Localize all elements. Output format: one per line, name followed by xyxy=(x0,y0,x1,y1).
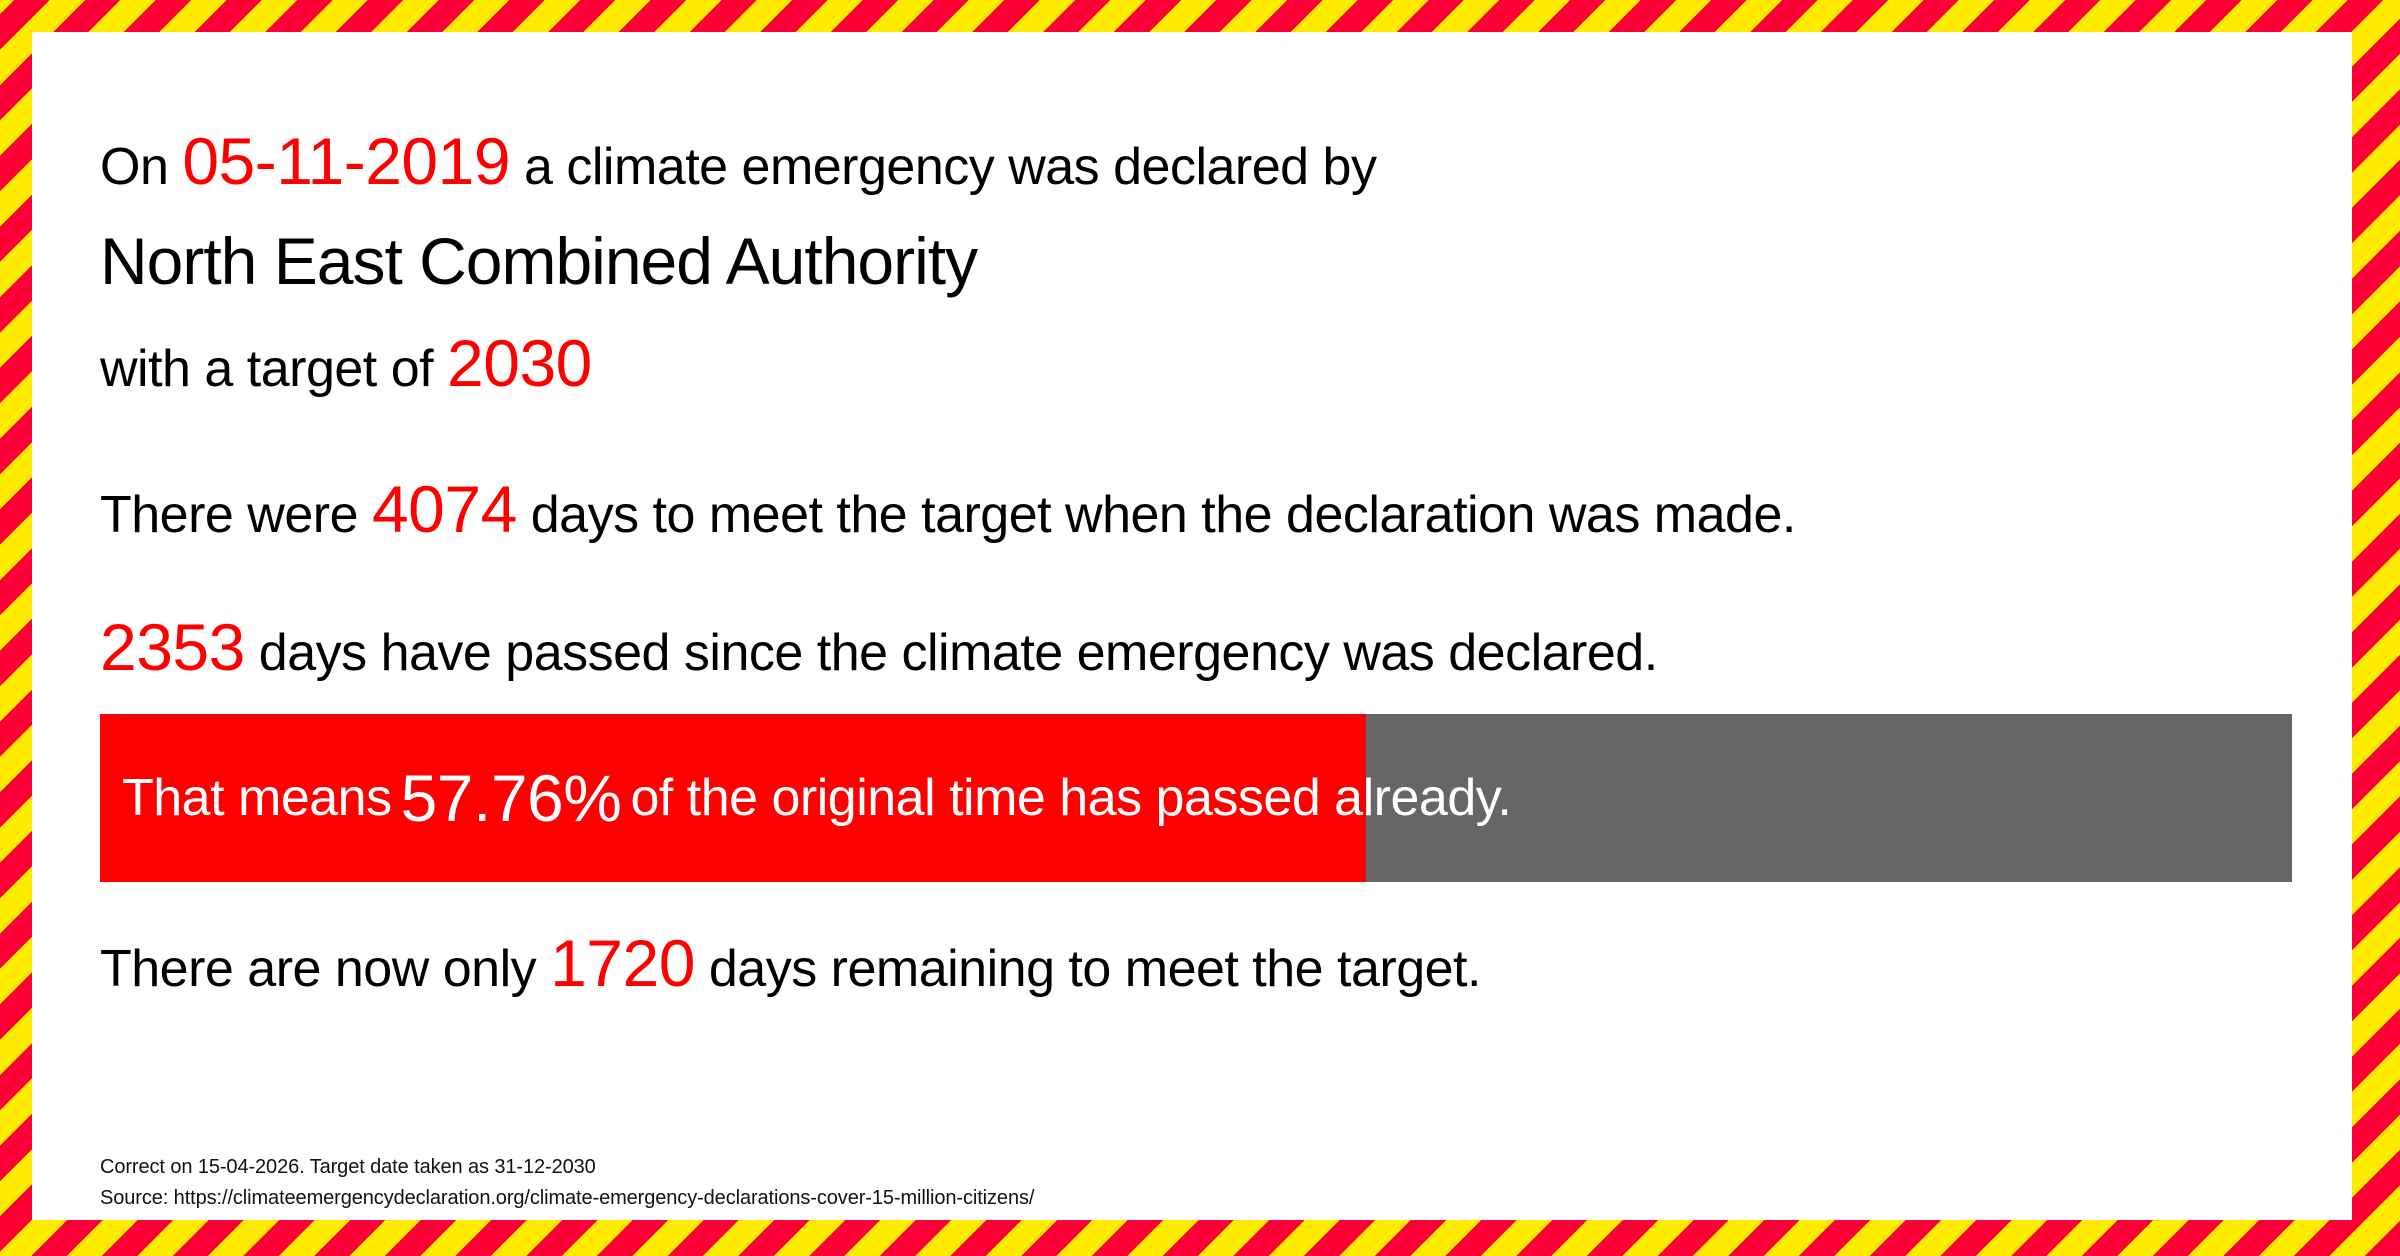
remaining-prefix-text: There are now only xyxy=(100,940,536,998)
declaration-prefix-text: On xyxy=(100,138,168,196)
progress-prefix-text: That means xyxy=(122,768,392,828)
footnote-source: Source: https://climateemergencydeclarat… xyxy=(100,1183,1034,1214)
authority-name: North East Combined Authority xyxy=(100,228,2322,294)
declaration-suffix-text: a climate emergency was declared by xyxy=(524,138,1376,196)
time-progress-bar: That means 57.76% of the original time h… xyxy=(100,714,2292,882)
original-suffix-text: days to meet the target when the declara… xyxy=(531,486,1796,544)
footnotes: Correct on 15-04-2026. Target date taken… xyxy=(100,1152,1034,1214)
elapsed-days-value: 2353 xyxy=(100,610,245,684)
footnote-correct-on: Correct on 15-04-2026. Target date taken… xyxy=(100,1152,1034,1183)
declaration-date-value: 05-11-2019 xyxy=(182,124,510,198)
info-card: On 05-11-2019 a climate emergency was de… xyxy=(32,32,2352,1220)
target-year-value: 2030 xyxy=(447,326,592,400)
poster-hazard-frame: On 05-11-2019 a climate emergency was de… xyxy=(0,0,2400,1256)
progress-percent-value: 57.76% xyxy=(392,760,631,836)
progress-suffix-text: of the original time has passed already. xyxy=(630,768,1511,828)
elapsed-days-line: 2353 days have passed since the climate … xyxy=(100,614,2322,680)
remaining-days-line: There are now only 1720 days remaining t… xyxy=(100,930,2322,996)
card-content: On 05-11-2019 a climate emergency was de… xyxy=(32,128,2352,1256)
time-progress-label: That means 57.76% of the original time h… xyxy=(100,714,2292,882)
declaration-date-line: On 05-11-2019 a climate emergency was de… xyxy=(100,128,2322,194)
target-prefix-text: with a target of xyxy=(100,340,433,398)
elapsed-suffix-text: days have passed since the climate emerg… xyxy=(259,624,1658,682)
remaining-suffix-text: days remaining to meet the target. xyxy=(709,940,1481,998)
original-days-line: There were 4074 days to meet the target … xyxy=(100,476,2322,542)
target-year-line: with a target of 2030 xyxy=(100,330,2322,396)
original-prefix-text: There were xyxy=(100,486,358,544)
remaining-days-value: 1720 xyxy=(550,926,695,1000)
original-days-value: 4074 xyxy=(372,472,517,546)
